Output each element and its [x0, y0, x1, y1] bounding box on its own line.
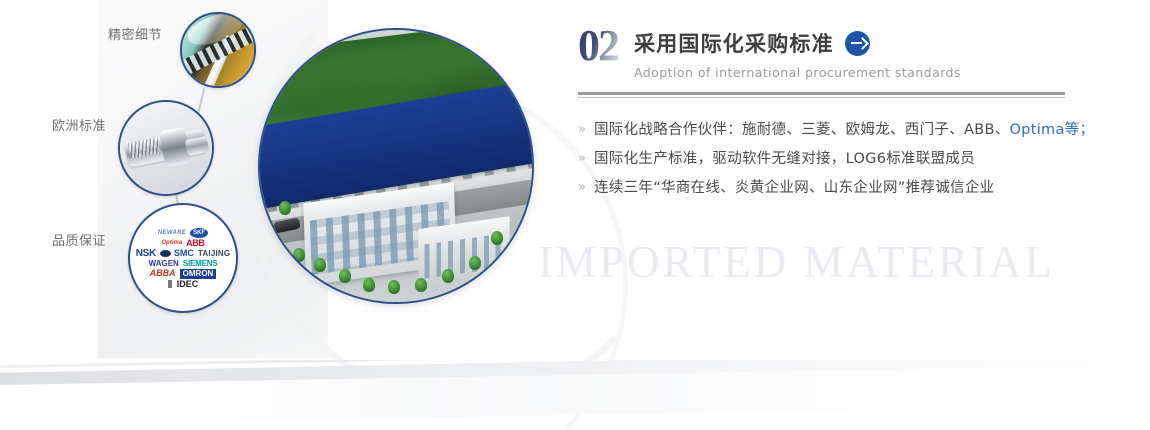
- logo-smc: SMC: [174, 249, 194, 258]
- logo-nsk: NSK: [136, 249, 156, 259]
- bullet-marker-icon: »: [578, 149, 594, 169]
- smc-dot-icon: [160, 250, 171, 257]
- hero-tree: [491, 231, 503, 245]
- list-item: » 国际化生产标准，驱动软件无缝对接，LOG6标准联盟成员: [578, 149, 1098, 169]
- hero-tree: [469, 256, 481, 270]
- bullet-text-accent: Optima等；: [1010, 122, 1095, 138]
- logo-row: WAGEN SIEMENS: [132, 260, 234, 268]
- header-divider: [578, 92, 1065, 98]
- logo-idec: IDEC: [177, 280, 199, 289]
- logo-neware: NEWARE: [158, 230, 186, 236]
- logo-row: NSK SMC TAIJING: [132, 249, 234, 259]
- bullet-text-main: 国际化战略合作伙伴：施耐德、三菱、欧姆龙、西门子、ABB、: [594, 122, 1010, 138]
- idec-bar-icon: [168, 280, 172, 288]
- logo-omron: OMRON: [180, 269, 217, 279]
- logo-abba: ABBA: [150, 269, 176, 278]
- section-number: 02: [578, 26, 622, 66]
- divider-thick-line: [578, 92, 1065, 95]
- thumbnail-brand-logos[interactable]: NEWARE SKF Optima ABB NSK SMC TAIJING WA…: [128, 203, 238, 313]
- bullet-marker-icon: »: [578, 120, 594, 140]
- feature-label-european-standard: 欧洲标准: [52, 115, 106, 134]
- section-header-text: 采用国际化采购标准 Adoption of international proc…: [634, 28, 961, 80]
- bullet-text: 国际化生产标准，驱动软件无缝对接，LOG6标准联盟成员: [594, 149, 975, 169]
- feature-label-quality-assurance: 品质保证: [52, 230, 106, 249]
- logo-row: NEWARE SKF: [132, 228, 234, 238]
- bullet-text-main: 国际化生产标准，驱动软件无缝对接，LOG6标准联盟成员: [594, 151, 975, 167]
- watermark-text: IMPORTED MATERIAL: [538, 236, 1055, 288]
- hero-tree: [415, 278, 427, 292]
- hero-tree: [293, 248, 305, 262]
- arrow-right-circle-icon[interactable]: [845, 31, 870, 56]
- bullet-text: 国际化战略合作伙伴：施耐德、三菱、欧姆龙、西门子、ABB、Optima等；: [594, 120, 1094, 140]
- logo-optima: Optima: [162, 240, 183, 246]
- section-subtitle: Adoption of international procurement st…: [634, 65, 961, 80]
- logo-abb: ABB: [186, 239, 204, 248]
- logo-row: ABBA OMRON: [132, 269, 234, 279]
- brand-logo-cloud: NEWARE SKF Optima ABB NSK SMC TAIJING WA…: [130, 205, 236, 311]
- hero-tree: [363, 278, 375, 292]
- section-header: 02 采用国际化采购标准 Adoption of international p…: [578, 26, 961, 80]
- list-item: » 连续三年“华商在线、炎黄企业网、山东企业网”推荐诚信企业: [578, 178, 1098, 198]
- right-content: 02 采用国际化采购标准 Adoption of international p…: [578, 0, 1118, 430]
- logo-taijing: TAIJING: [198, 250, 230, 258]
- divider-thin-line: [578, 97, 1065, 98]
- logo-wagen: WAGEN: [149, 260, 179, 268]
- bullet-text-main: 连续三年“华商在线、炎黄企业网、山东企业网”推荐诚信企业: [594, 180, 994, 196]
- thumbnail-gear-teeth[interactable]: [180, 12, 256, 88]
- logo-row: IDEC: [132, 280, 234, 289]
- logo-skf: SKF: [190, 228, 208, 238]
- bullet-text: 连续三年“华商在线、炎黄企业网、山东企业网”推荐诚信企业: [594, 178, 994, 198]
- logo-row: Optima ABB: [132, 239, 234, 248]
- bullet-list: » 国际化战略合作伙伴：施耐德、三菱、欧姆龙、西门子、ABB、Optima等； …: [578, 120, 1098, 207]
- hero-tree: [388, 280, 400, 294]
- section-title: 采用国际化采购标准: [634, 28, 834, 58]
- section-title-line: 采用国际化采购标准: [634, 28, 961, 58]
- list-item: » 国际化战略合作伙伴：施耐德、三菱、欧姆龙、西门子、ABB、Optima等；: [578, 120, 1098, 140]
- hero-factory-image[interactable]: [258, 28, 534, 304]
- feature-label-precision: 精密细节: [108, 24, 162, 43]
- page-root: 精密细节 欧洲标准 品质保证 NEWARE SKF Optima ABB NSK: [0, 0, 1150, 430]
- hero-tree: [339, 269, 351, 283]
- logo-siemens: SIEMENS: [183, 260, 218, 268]
- hero-tree: [279, 201, 291, 215]
- bullet-marker-icon: »: [578, 178, 594, 198]
- thumbnail-ball-screw[interactable]: [118, 100, 214, 196]
